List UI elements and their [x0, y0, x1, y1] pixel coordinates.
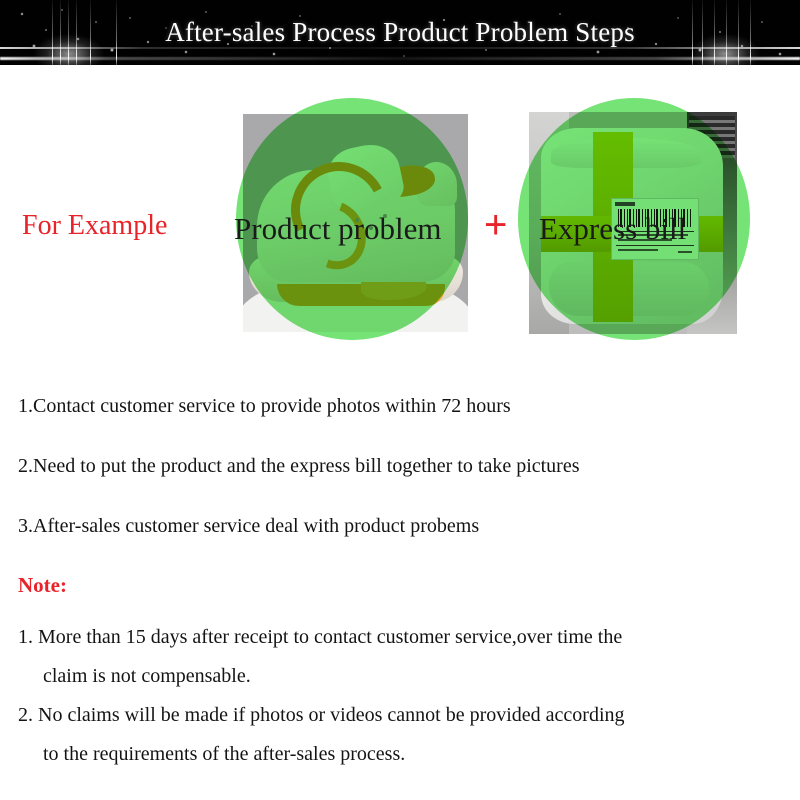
shipping-label-text-line-3 [618, 249, 658, 251]
step-item-2: 2.Need to put the product and the expres… [18, 455, 580, 478]
plus-icon: + [484, 205, 507, 245]
note-item-2: 2. No claims will be made if photos or v… [18, 696, 788, 774]
step-item-3: 3.After-sales customer service deal with… [18, 515, 479, 538]
note-item-2-line-1: 2. No claims will be made if photos or v… [18, 704, 625, 726]
express-bill-caption: Express bill [539, 211, 686, 247]
header-banner: After-sales Process Product Problem Step… [0, 0, 800, 65]
page-title: After-sales Process Product Problem Step… [0, 0, 800, 65]
note-item-1-line-2: claim is not compensable. [18, 657, 788, 696]
shipping-label-header-block [615, 202, 635, 206]
note-heading: Note: [18, 573, 67, 598]
note-item-2-line-2: to the requirements of the after-sales p… [18, 735, 788, 774]
shipping-label-text-line-4 [678, 251, 692, 253]
for-example-label: For Example [22, 210, 167, 242]
step-item-1: 1.Contact customer service to provide ph… [18, 395, 511, 418]
note-item-1: 1. More than 15 days after receipt to co… [18, 618, 788, 696]
product-problem-caption: Product problem [234, 211, 442, 247]
note-item-1-line-1: 1. More than 15 days after receipt to co… [18, 626, 622, 648]
